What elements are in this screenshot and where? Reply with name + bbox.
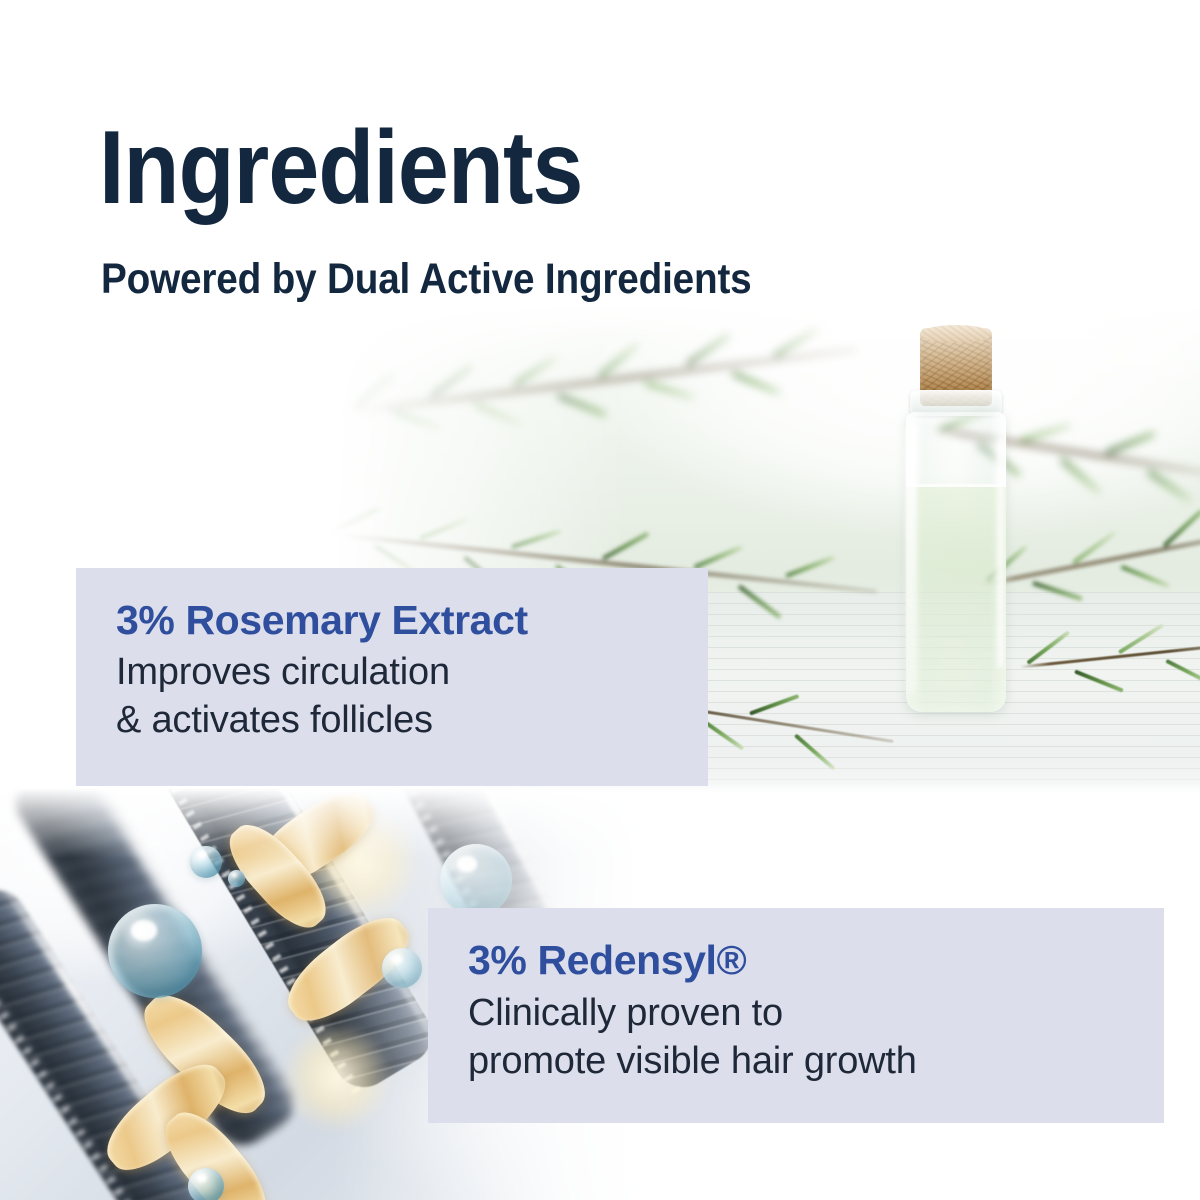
droplet-small-top (190, 846, 222, 878)
ribbon-glow-mid (282, 1022, 392, 1132)
ingredient-body-line: & activates follicles (116, 697, 674, 745)
droplet-bottom (188, 1168, 224, 1200)
ingredient-body-rosemary: Improves circulation & activates follicl… (116, 649, 674, 745)
ingredient-heading-rosemary: 3% Rosemary Extract (116, 598, 674, 644)
droplet-large (108, 904, 202, 998)
droplet-mid-right (382, 948, 422, 988)
ingredient-body-redensyl: Clinically proven to promote visible hai… (468, 990, 1130, 1086)
droplet-upper-right (440, 844, 512, 916)
ingredient-heading-redensyl: 3% Redensyl® (468, 938, 1130, 984)
infographic-page: Ingredients Powered by Dual Active Ingre… (0, 0, 1200, 1200)
bottle-highlight-left (905, 424, 917, 694)
cork-top (920, 325, 992, 343)
bottle-highlight-right (997, 438, 1004, 668)
page-title: Ingredients (99, 118, 583, 220)
ingredient-card-rosemary: 3% Rosemary Extract Improves circulation… (76, 568, 708, 786)
droplet-tiny (228, 870, 245, 887)
ingredient-body-line: Clinically proven to (468, 990, 1130, 1038)
page-subtitle: Powered by Dual Active Ingredients (101, 258, 752, 301)
bottle-body (906, 412, 1006, 712)
ingredient-body-line: Improves circulation (116, 649, 674, 697)
ingredient-body-line: promote visible hair growth (468, 1038, 1130, 1086)
ingredient-card-redensyl: 3% Redensyl® Clinically proven to promot… (428, 908, 1164, 1123)
rosemary-oil-liquid (906, 484, 1006, 712)
oil-bottle (892, 328, 1020, 718)
